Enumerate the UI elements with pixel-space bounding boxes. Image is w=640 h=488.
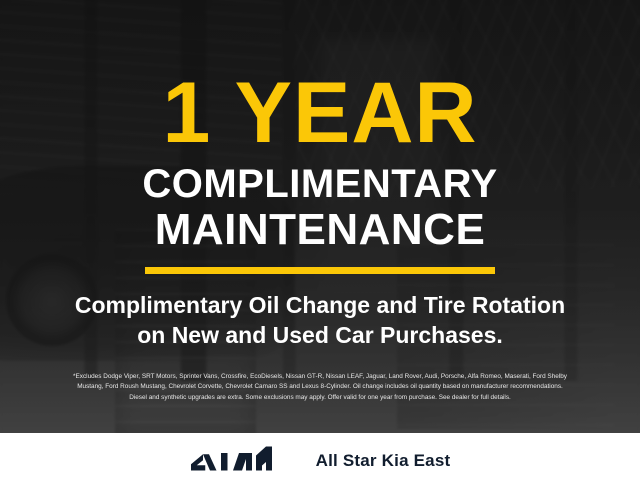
offer-description: Complimentary Oil Change and Tire Rotati… [75,291,565,351]
dealer-footer: All Star Kia East [0,433,640,488]
disclaimer-line-1: *Excludes Dodge Viper, SRT Motors, Sprin… [14,372,626,382]
disclaimer-line-3: Diesel and synthetic upgrades are extra.… [14,393,626,403]
headline-subtitle: COMPLIMENTARY MAINTENANCE [142,163,497,253]
promotional-banner: 1 YEAR COMPLIMENTARY MAINTENANCE Complim… [0,0,640,488]
offer-line-1: Complimentary Oil Change and Tire Rotati… [75,292,565,318]
offer-line-2: on New and Used Car Purchases. [75,321,565,351]
yellow-divider-bar [145,267,495,274]
dealer-name: All Star Kia East [316,451,451,471]
headline-line-complimentary: COMPLIMENTARY [142,162,497,206]
disclaimer-line-2: Mustang, Ford Roush Mustang, Chevrolet C… [14,382,626,392]
banner-content: 1 YEAR COMPLIMENTARY MAINTENANCE Complim… [0,0,640,488]
headline-line-maintenance: MAINTENANCE [142,206,497,253]
headline-year: 1 YEAR [162,74,477,153]
disclaimer-fine-print: *Excludes Dodge Viper, SRT Motors, Sprin… [14,372,626,403]
kia-logo-icon [190,445,294,477]
